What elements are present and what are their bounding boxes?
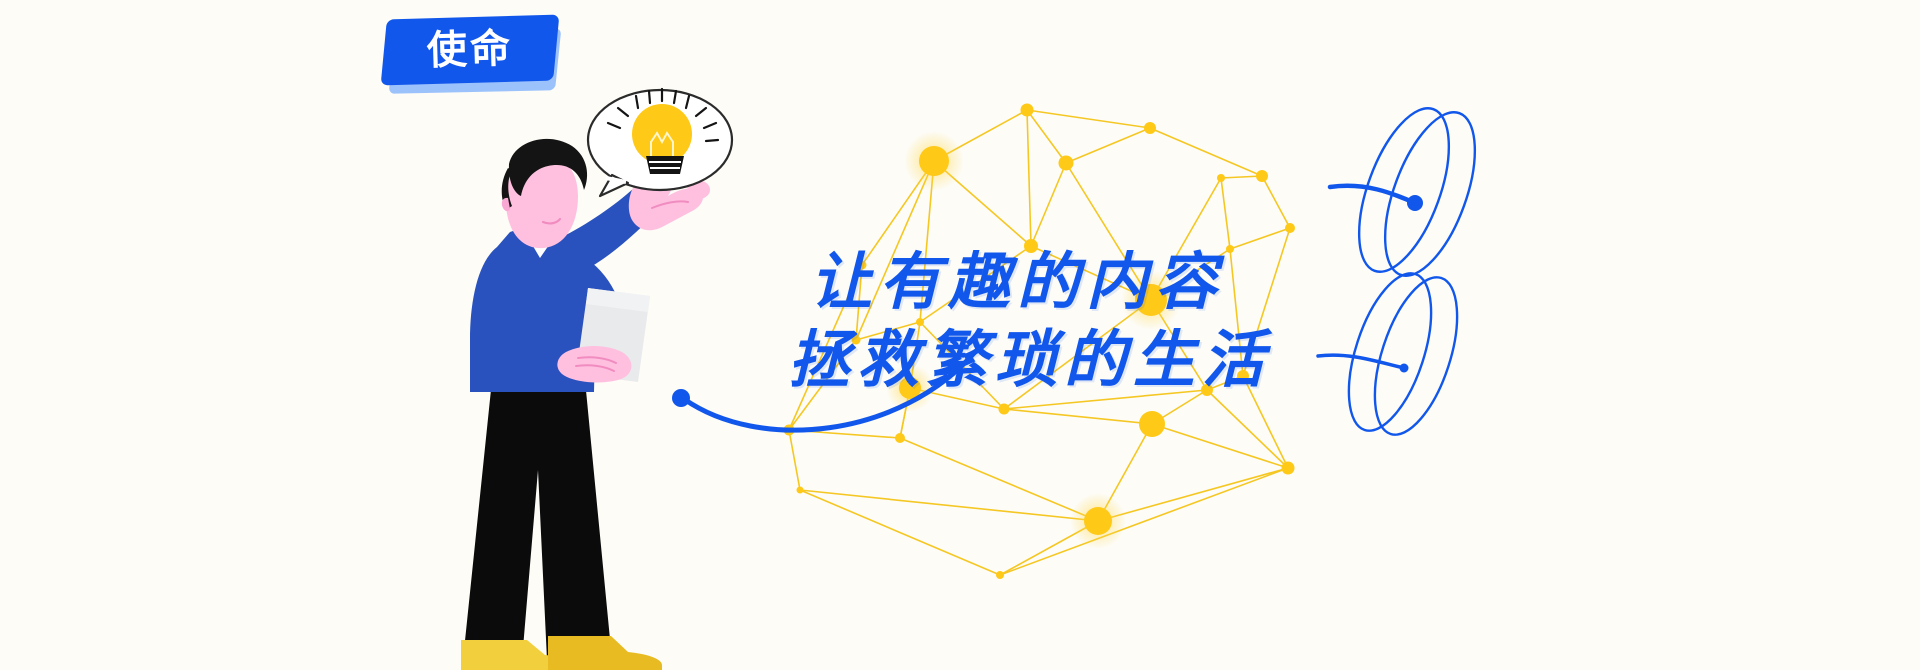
lightbulb-glass <box>632 104 692 164</box>
lightbulb-base <box>646 156 684 174</box>
mission-banner: 使命 让有趣的内容 拯救繁琐的生活 <box>0 0 1920 670</box>
idea-speech-bubble <box>0 0 1920 670</box>
